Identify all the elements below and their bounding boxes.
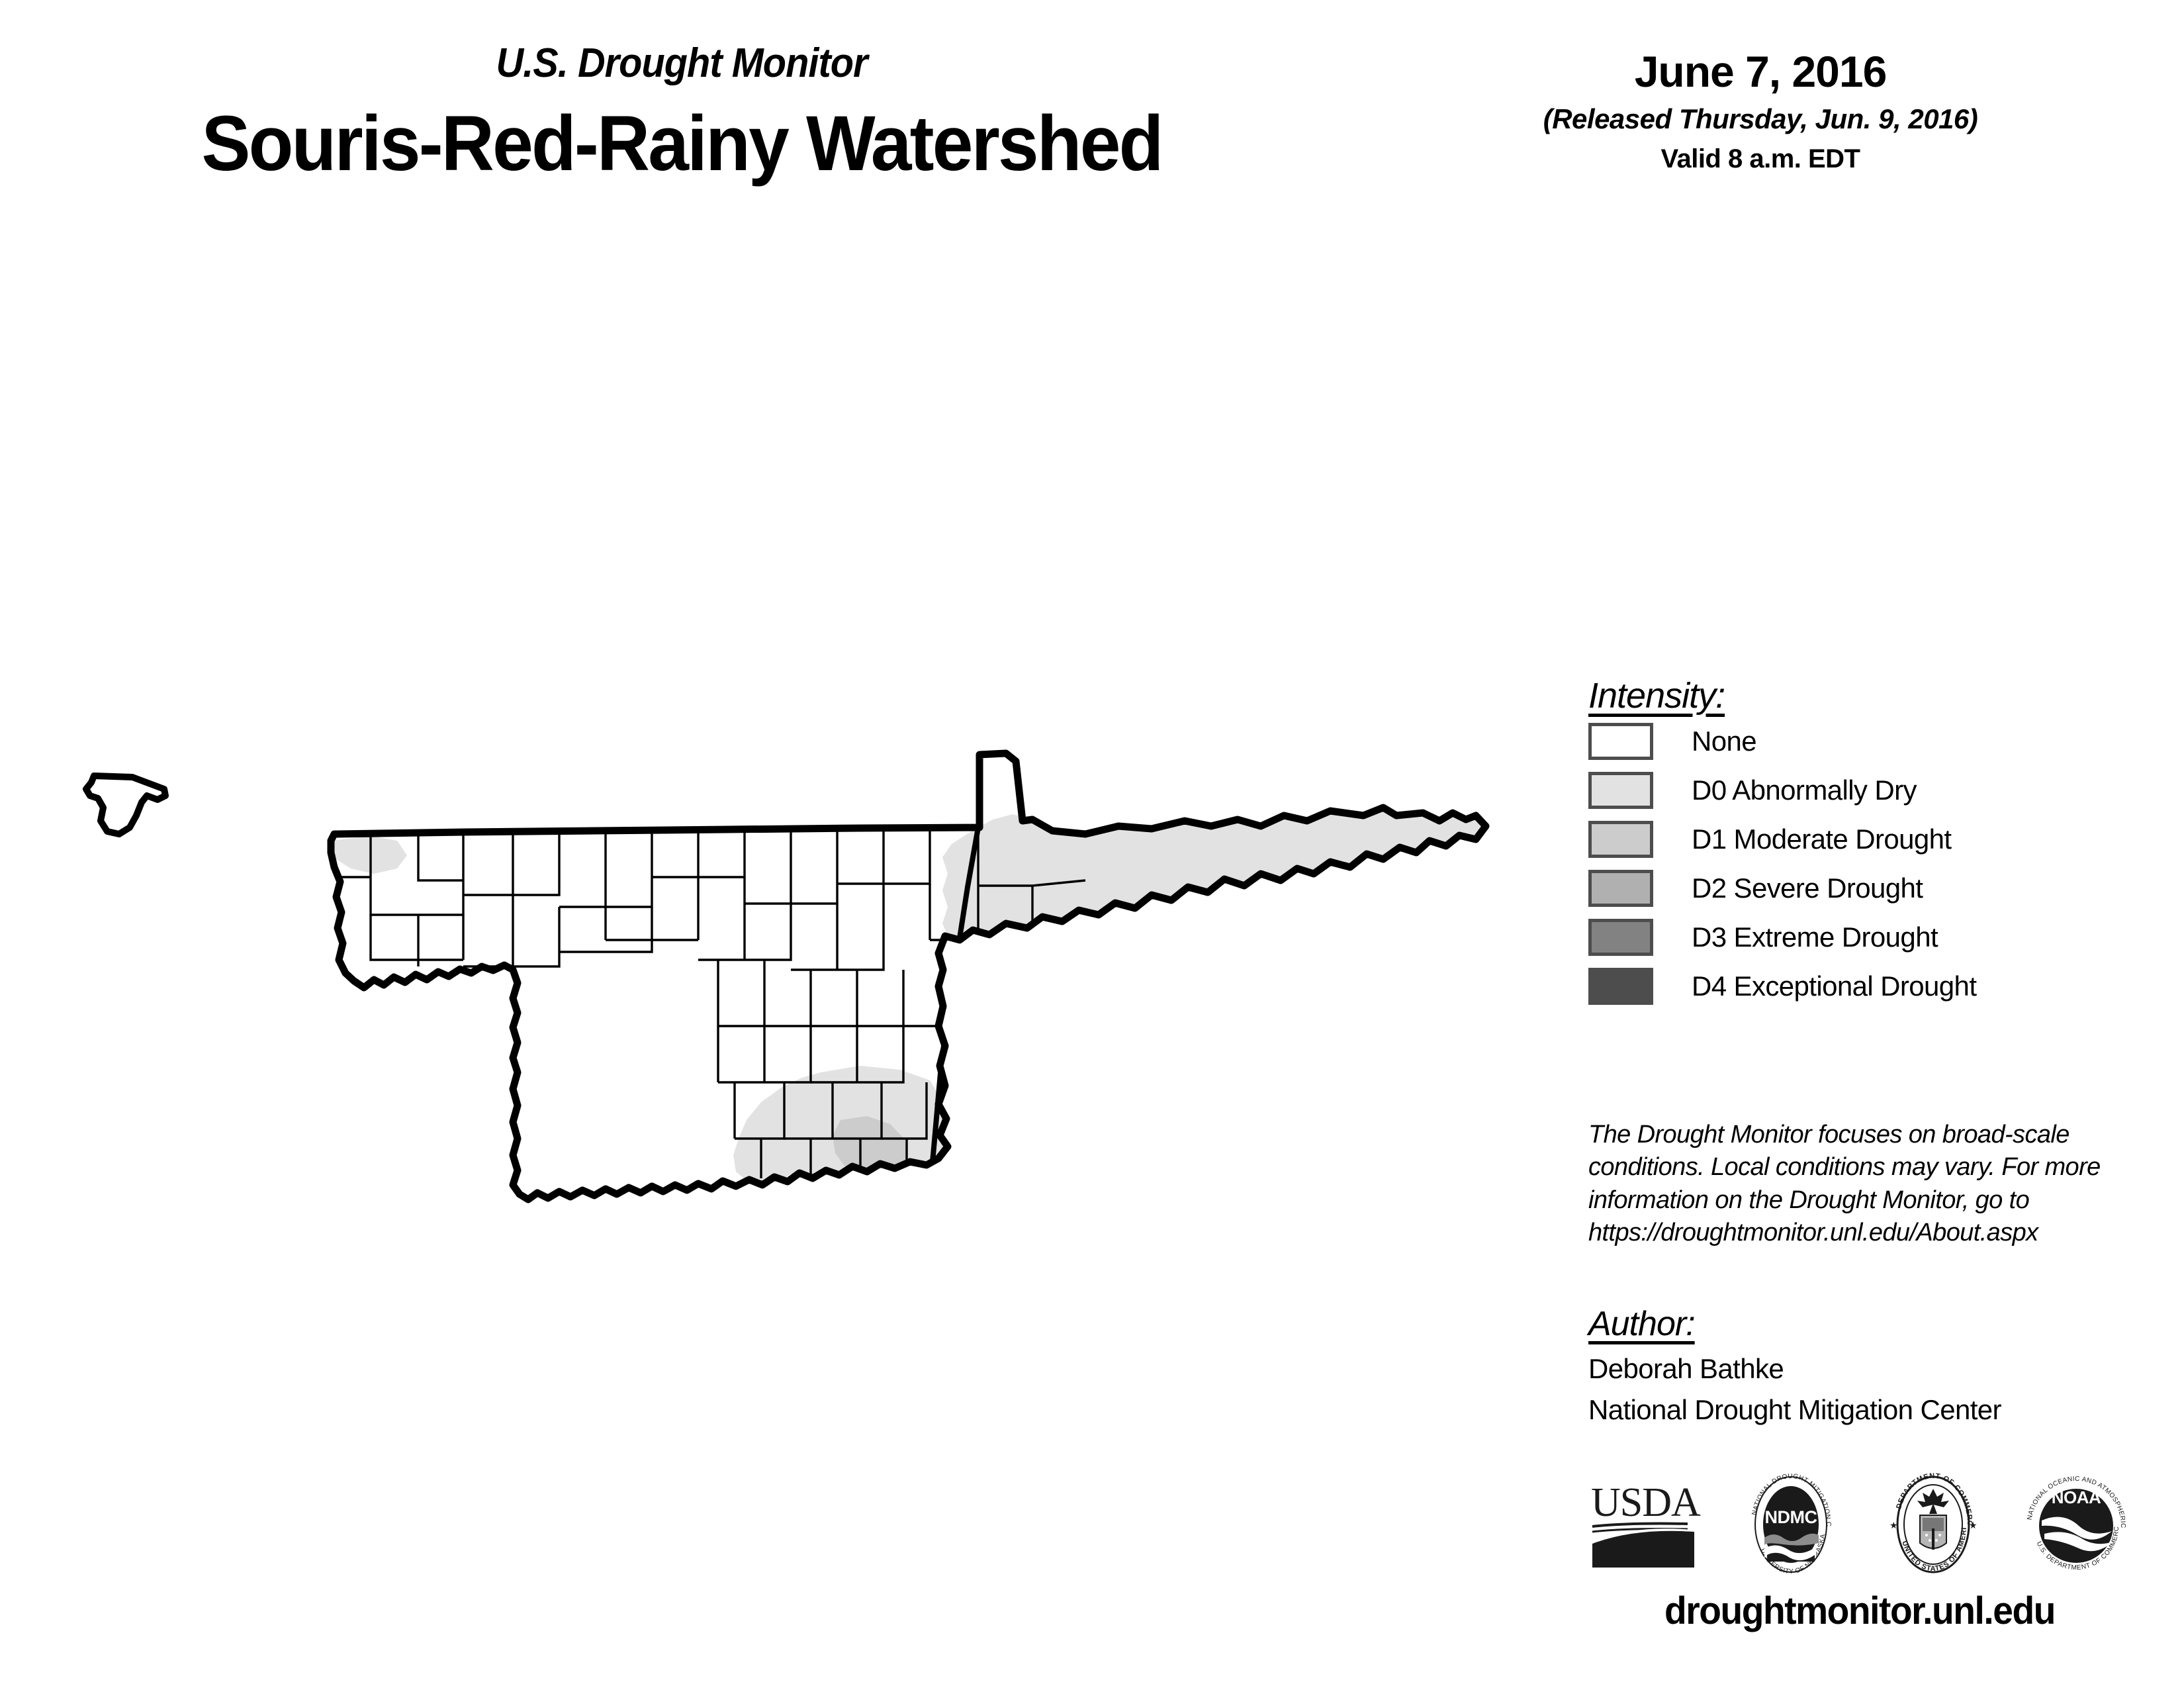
legend-label-none: None bbox=[1692, 726, 1756, 757]
legend-item-d0: D0 Abnormally Dry bbox=[1588, 767, 2144, 814]
title-block: U.S. Drought Monitor Souris-Red-Rainy Wa… bbox=[0, 40, 1363, 189]
legend-item-d1: D1 Moderate Drought bbox=[1588, 816, 2144, 863]
site-url: droughtmonitor.unl.edu bbox=[1602, 1589, 2118, 1633]
legend-swatch-d2 bbox=[1588, 870, 1653, 907]
legend: Intensity: None D0 Abnormally Dry D1 Mod… bbox=[1588, 675, 2144, 1010]
legend-label-d4: D4 Exceptional Drought bbox=[1692, 970, 1976, 1002]
legend-swatch-d4 bbox=[1588, 968, 1653, 1005]
author-name: Deborah Bathke bbox=[1588, 1353, 2144, 1385]
usda-logo-text: USDA bbox=[1591, 1480, 1701, 1525]
legend-label-d1: D1 Moderate Drought bbox=[1692, 823, 1951, 855]
author-affiliation: National Drought Mitigation Center bbox=[1588, 1394, 2144, 1426]
valid-date: June 7, 2016 bbox=[1443, 46, 2078, 97]
author-block: Author: Deborah Bathke National Drought … bbox=[1588, 1304, 2144, 1426]
legend-swatch-none bbox=[1588, 723, 1653, 760]
legend-title: Intensity: bbox=[1588, 675, 1725, 716]
doc-logo: DEPARTMENT OF COMMERCE UNITED STATES OF … bbox=[1880, 1465, 1986, 1587]
author-heading: Author: bbox=[1588, 1304, 1695, 1344]
legend-item-d4: D4 Exceptional Drought bbox=[1588, 962, 2144, 1010]
legend-label-d3: D3 Extreme Drought bbox=[1692, 921, 1938, 953]
ndmc-logo-text: NDMC bbox=[1765, 1507, 1817, 1527]
noaa-logo-text: NOAA bbox=[2052, 1487, 2101, 1507]
ndmc-logo: NATIONAL DROUGHT MITIGATION CENTER UNIVE… bbox=[1738, 1465, 1844, 1587]
page-supertitle: U.S. Drought Monitor bbox=[48, 40, 1316, 87]
legend-swatch-d0 bbox=[1588, 772, 1653, 809]
disclaimer-text: The Drought Monitor focuses on broad-sca… bbox=[1588, 1119, 2138, 1250]
date-block: June 7, 2016 (Released Thursday, Jun. 9,… bbox=[1443, 46, 2078, 174]
usda-logo: USDA bbox=[1588, 1475, 1702, 1577]
legend-item-d2: D2 Severe Drought bbox=[1588, 865, 2144, 912]
svg-text:★: ★ bbox=[1889, 1520, 1898, 1530]
released-date: (Released Thursday, Jun. 9, 2016) bbox=[1443, 103, 2078, 135]
noaa-logo: NATIONAL OCEANIC AND ATMOSPHERIC ADMIN U… bbox=[2022, 1465, 2131, 1587]
svg-text:★: ★ bbox=[1969, 1520, 1978, 1530]
legend-label-d2: D2 Severe Drought bbox=[1692, 872, 1923, 904]
page-title: Souris-Red-Rainy Watershed bbox=[41, 99, 1322, 189]
legend-item-none: None bbox=[1588, 718, 2144, 765]
legend-swatch-d1 bbox=[1588, 821, 1653, 858]
valid-time: Valid 8 a.m. EDT bbox=[1443, 144, 2078, 174]
watershed-inset-fragment bbox=[86, 776, 165, 834]
legend-item-d3: D3 Extreme Drought bbox=[1588, 914, 2144, 961]
logo-row: USDA NATIONAL DROUGHT MITIGATION CENTER … bbox=[1588, 1463, 2131, 1589]
drought-map bbox=[0, 741, 1522, 1231]
legend-swatch-d3 bbox=[1588, 919, 1653, 956]
legend-label-d0: D0 Abnormally Dry bbox=[1692, 774, 1917, 806]
